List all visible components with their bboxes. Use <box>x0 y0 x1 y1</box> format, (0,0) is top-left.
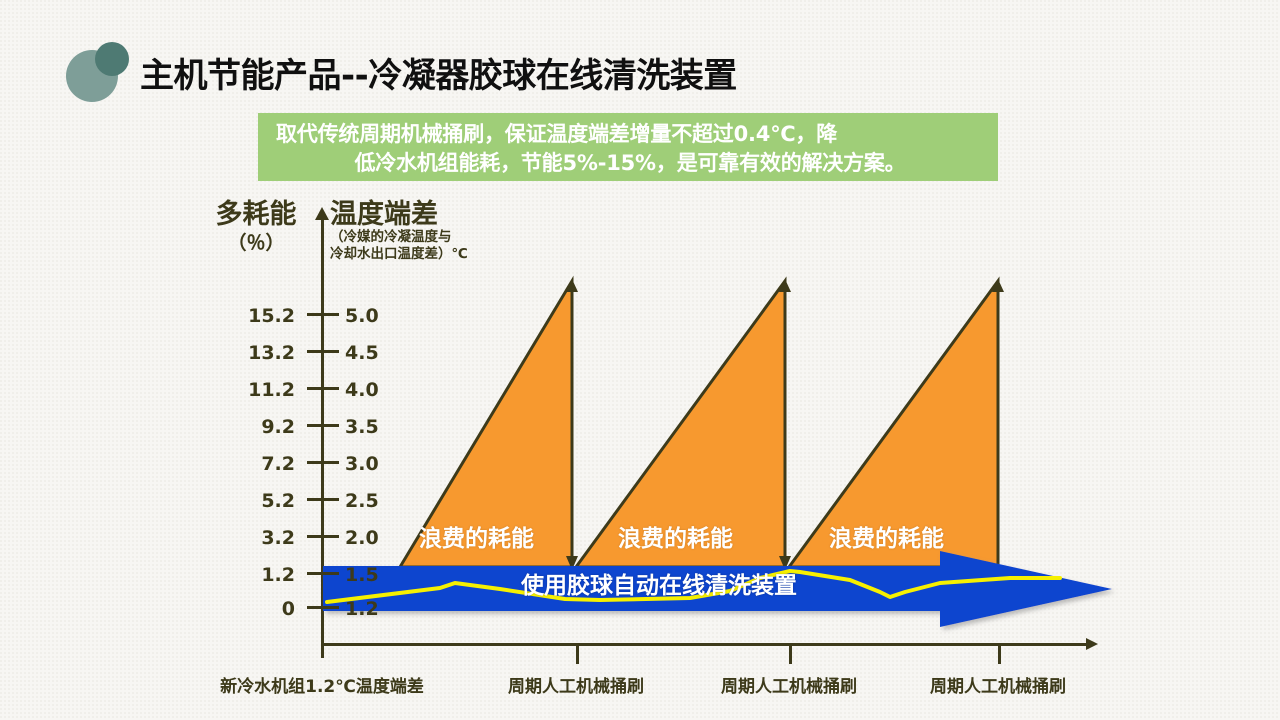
y-axis-left-tick-label: 1.2 <box>205 564 295 586</box>
y-axis-tick-mark <box>307 498 339 501</box>
slide-canvas: 主机节能产品--冷凝器胶球在线清洗装置 取代传统周期机械捅刷，保证温度端差增量不… <box>0 0 1280 720</box>
y-axis-line <box>321 218 324 658</box>
y-axis-tick-mark <box>307 461 339 464</box>
y-axis-tick-mark <box>307 572 339 575</box>
y-axis-left-tick-label: 9.2 <box>205 416 295 438</box>
y-axis-tick-mark <box>307 350 339 353</box>
wasted-energy-label-2: 浪费的耗能 <box>618 519 733 553</box>
y-axis-left-title: 多耗能 （％） <box>196 200 316 256</box>
x-axis-tick-mark <box>576 646 579 664</box>
y-axis-left-tick-label: 7.2 <box>205 453 295 475</box>
sawtooth-rise-arrow-2 <box>779 279 791 292</box>
y-axis-left-tick-label: 3.2 <box>205 527 295 549</box>
wasted-energy-label-1: 浪费的耗能 <box>419 519 534 553</box>
x-axis-tick-label: 新冷水机组1.2℃温度端差 <box>220 672 424 697</box>
y-axis-tick-mark <box>307 313 339 316</box>
y-axis-tick-mark <box>307 424 339 427</box>
y-axis-left-title-text: 多耗能 <box>196 200 316 230</box>
sawtooth-rise-arrow-1 <box>566 279 578 292</box>
y-axis-right-sub-1: （冷媒的冷凝温度与 <box>330 229 468 246</box>
y-axis-right-tick-label: 1.2 <box>345 598 379 620</box>
y-axis-left-tick-label: 15.2 <box>205 305 295 327</box>
sawtooth-rise-arrow-3 <box>992 279 1004 292</box>
y-axis-left-unit: （％） <box>196 230 316 256</box>
x-axis-tick-mark <box>789 646 792 664</box>
y-axis-right-tick-label: 2.5 <box>345 490 379 512</box>
x-axis-arrow-icon <box>1086 638 1098 650</box>
y-axis-right-tick-label: 4.5 <box>345 342 379 364</box>
y-axis-left-tick-label: 5.2 <box>205 490 295 512</box>
y-axis-right-tick-label: 1.5 <box>345 564 379 586</box>
blue-band-label: 使用胶球自动在线清洗装置 <box>521 566 797 600</box>
y-axis-right-tick-label: 5.0 <box>345 305 379 327</box>
y-axis-tick-mark <box>307 535 339 538</box>
y-axis-right-tick-label: 4.0 <box>345 379 379 401</box>
logo-circle-small-icon <box>95 42 129 76</box>
banner-line-2: 低冷水机组能耗，节能5%-15%，是可靠有效的解决方案。 <box>276 149 984 178</box>
x-axis-tick-mark <box>998 646 1001 664</box>
logo <box>66 42 132 104</box>
y-axis-left-tick-label: 11.2 <box>205 379 295 401</box>
y-axis-tick-mark <box>307 387 339 390</box>
y-axis-left-tick-label: 0 <box>205 598 295 620</box>
y-axis-right-sub-2: 冷却水出口温度差）℃ <box>330 246 468 263</box>
x-axis-tick-label: 周期人工机械捅刷 <box>721 672 857 697</box>
y-axis-right-title-text: 温度端差 <box>330 200 468 229</box>
summary-banner: 取代传统周期机械捅刷，保证温度端差增量不超过0.4℃，降 低冷水机组能耗，节能5… <box>258 113 998 181</box>
y-axis-right-title: 温度端差 （冷媒的冷凝温度与 冷却水出口温度差）℃ <box>330 200 468 263</box>
page-title: 主机节能产品--冷凝器胶球在线清洗装置 <box>140 48 737 97</box>
y-axis-left-tick-label: 13.2 <box>205 342 295 364</box>
wasted-energy-label-3: 浪费的耗能 <box>829 519 944 553</box>
y-axis-right-tick-label: 2.0 <box>345 527 379 549</box>
y-axis-right-tick-label: 3.0 <box>345 453 379 475</box>
banner-line-1: 取代传统周期机械捅刷，保证温度端差增量不超过0.4℃，降 <box>276 120 984 149</box>
y-axis-right-tick-label: 3.5 <box>345 416 379 438</box>
chart-plot-area <box>0 0 1280 720</box>
y-axis-tick-mark <box>307 606 339 609</box>
x-axis-line <box>321 643 1089 646</box>
x-axis-tick-label: 周期人工机械捅刷 <box>930 672 1066 697</box>
x-axis-tick-label: 周期人工机械捅刷 <box>508 672 644 697</box>
